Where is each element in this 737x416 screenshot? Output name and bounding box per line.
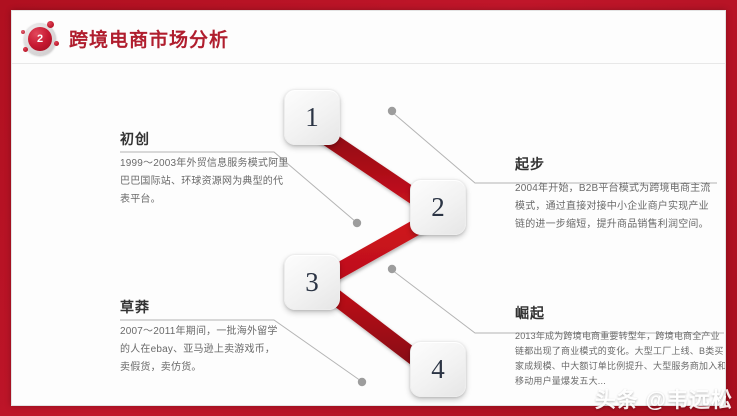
text-block-body-chuchuang: 1999～2003年外贸信息服务模式阿里巴巴国际站、环球资源网为典型的代表平台。 bbox=[120, 155, 292, 209]
slide-inner-panel: 2 跨境电商市场分析 bbox=[11, 10, 726, 406]
text-block-caomang: 草莽 2007～2011年期间，一批海外留学的人在ebay、亚马逊上卖游戏币，卖… bbox=[120, 297, 280, 377]
text-block-body-caomang: 2007～2011年期间，一批海外留学的人在ebay、亚马逊上卖游戏币，卖假货，… bbox=[120, 323, 280, 377]
text-block-qibu: 起步 2004年开始，B2B平台模式为跨境电商主流模式，通过直接对接中小企业商户… bbox=[515, 154, 715, 234]
leader-dot-chuchuang bbox=[353, 219, 361, 227]
step-box-3[interactable]: 3 bbox=[284, 254, 340, 310]
step-number-4: 4 bbox=[411, 342, 465, 396]
leader-dot-caomang bbox=[358, 378, 366, 386]
text-block-heading-jueqi: 崛起 bbox=[515, 303, 726, 323]
step-box-1[interactable]: 1 bbox=[284, 89, 340, 145]
step-box-2[interactable]: 2 bbox=[410, 179, 466, 235]
text-block-heading-qibu: 起步 bbox=[515, 154, 715, 174]
text-block-heading-chuchuang: 初创 bbox=[120, 129, 292, 149]
leader-dot-qibu bbox=[388, 107, 396, 115]
step-box-4[interactable]: 4 bbox=[410, 341, 466, 397]
text-block-heading-caomang: 草莽 bbox=[120, 297, 280, 317]
step-number-1: 1 bbox=[285, 90, 339, 144]
step-number-2: 2 bbox=[411, 180, 465, 234]
text-block-body-qibu: 2004年开始，B2B平台模式为跨境电商主流模式，通过直接对接中小企业商户实现产… bbox=[515, 180, 715, 234]
text-block-body-jueqi: 2013年成为跨境电商重要转型年，跨境电商全产业链都出现了商业模式的变化。大型工… bbox=[515, 329, 726, 389]
text-block-chuchuang: 初创 1999～2003年外贸信息服务模式阿里巴巴国际站、环球资源网为典型的代表… bbox=[120, 129, 292, 209]
step-number-3: 3 bbox=[285, 255, 339, 309]
text-block-jueqi: 崛起 2013年成为跨境电商重要转型年，跨境电商全产业链都出现了商业模式的变化。… bbox=[515, 303, 726, 389]
leader-dot-jueqi bbox=[388, 265, 396, 273]
slide: 2 跨境电商市场分析 bbox=[0, 0, 737, 416]
